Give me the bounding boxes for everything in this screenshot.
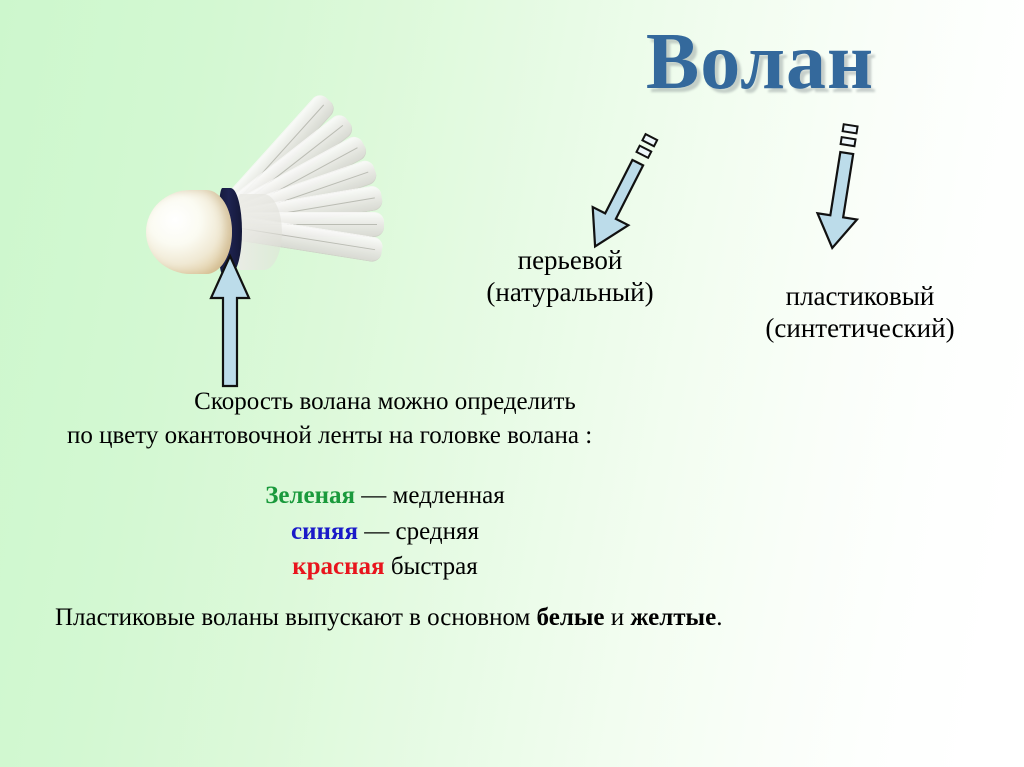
intro-line-1: Скорость волана можно определить (55, 385, 715, 419)
slide-canvas: Волан перьевой (натуральный) (0, 0, 1024, 767)
final-note-line: Пластиковые воланы выпускают в основном … (55, 601, 885, 635)
legend-dash-green: — (361, 482, 386, 509)
final-bold-yellow: желтые (630, 604, 716, 631)
final-mid: и (604, 604, 630, 631)
label-feather-line1: перьевой (420, 245, 720, 277)
speed-color-legend: Зеленая — медленная синяя — средняя крас… (55, 478, 715, 585)
arrow-down-right-icon (790, 120, 910, 255)
legend-row-green: Зеленая — медленная (55, 478, 715, 514)
body-text-block: Скорость волана можно определить по цвет… (55, 385, 885, 634)
legend-speed-green: медленная (393, 482, 505, 509)
legend-color-name-green: Зеленая (265, 482, 355, 509)
label-plastic-line1: пластиковый (700, 281, 1020, 313)
arrow-down-left-icon (552, 118, 682, 258)
arrow-up-icon (196, 252, 266, 392)
label-feather-line2: (натуральный) (420, 277, 720, 309)
legend-speed-blue: средняя (396, 518, 479, 545)
label-feather-shuttlecock: перьевой (натуральный) (420, 245, 720, 309)
page-title: Волан (560, 22, 960, 102)
label-plastic-line2: (синтетический) (700, 313, 1020, 345)
shuttlecock-image (132, 62, 432, 272)
legend-color-name-red: красная (292, 553, 384, 580)
legend-dash-blue: — (364, 518, 389, 545)
intro-line-2: по цвету окантовочной ленты на головке в… (55, 419, 885, 453)
legend-speed-red: быстрая (391, 553, 478, 580)
legend-row-red: красная быстрая (55, 549, 715, 585)
legend-color-name-blue: синяя (291, 518, 358, 545)
final-bold-white: белые (537, 604, 605, 631)
legend-row-blue: синяя — средняя (55, 514, 715, 550)
final-suffix: . (716, 604, 722, 631)
final-prefix: Пластиковые воланы выпускают в основном (55, 604, 537, 631)
label-plastic-shuttlecock: пластиковый (синтетический) (700, 281, 1020, 345)
